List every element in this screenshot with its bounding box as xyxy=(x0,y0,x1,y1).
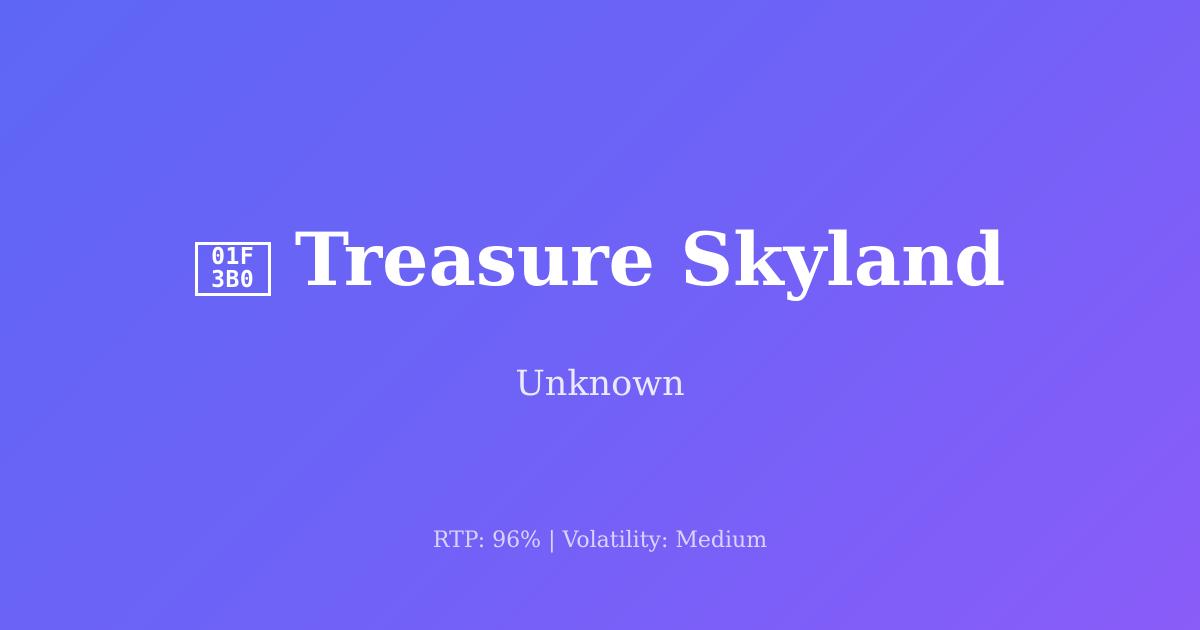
slot-machine-emoji-icon: 01F 3B0 xyxy=(195,242,271,296)
tofu-codepoint-line-1: 01F xyxy=(211,246,254,269)
provider-label: Unknown xyxy=(0,362,1200,406)
title-inner: 01F 3B0 Treasure Skyland xyxy=(0,224,1200,297)
tofu-codepoint-line-2: 3B0 xyxy=(211,269,254,292)
game-stats-line: RTP: 96% | Volatility: Medium xyxy=(0,525,1200,557)
og-share-card: 01F 3B0 Treasure Skyland Unknown RTP: 96… xyxy=(0,0,1200,630)
game-title: Treasure Skyland xyxy=(295,224,1006,297)
